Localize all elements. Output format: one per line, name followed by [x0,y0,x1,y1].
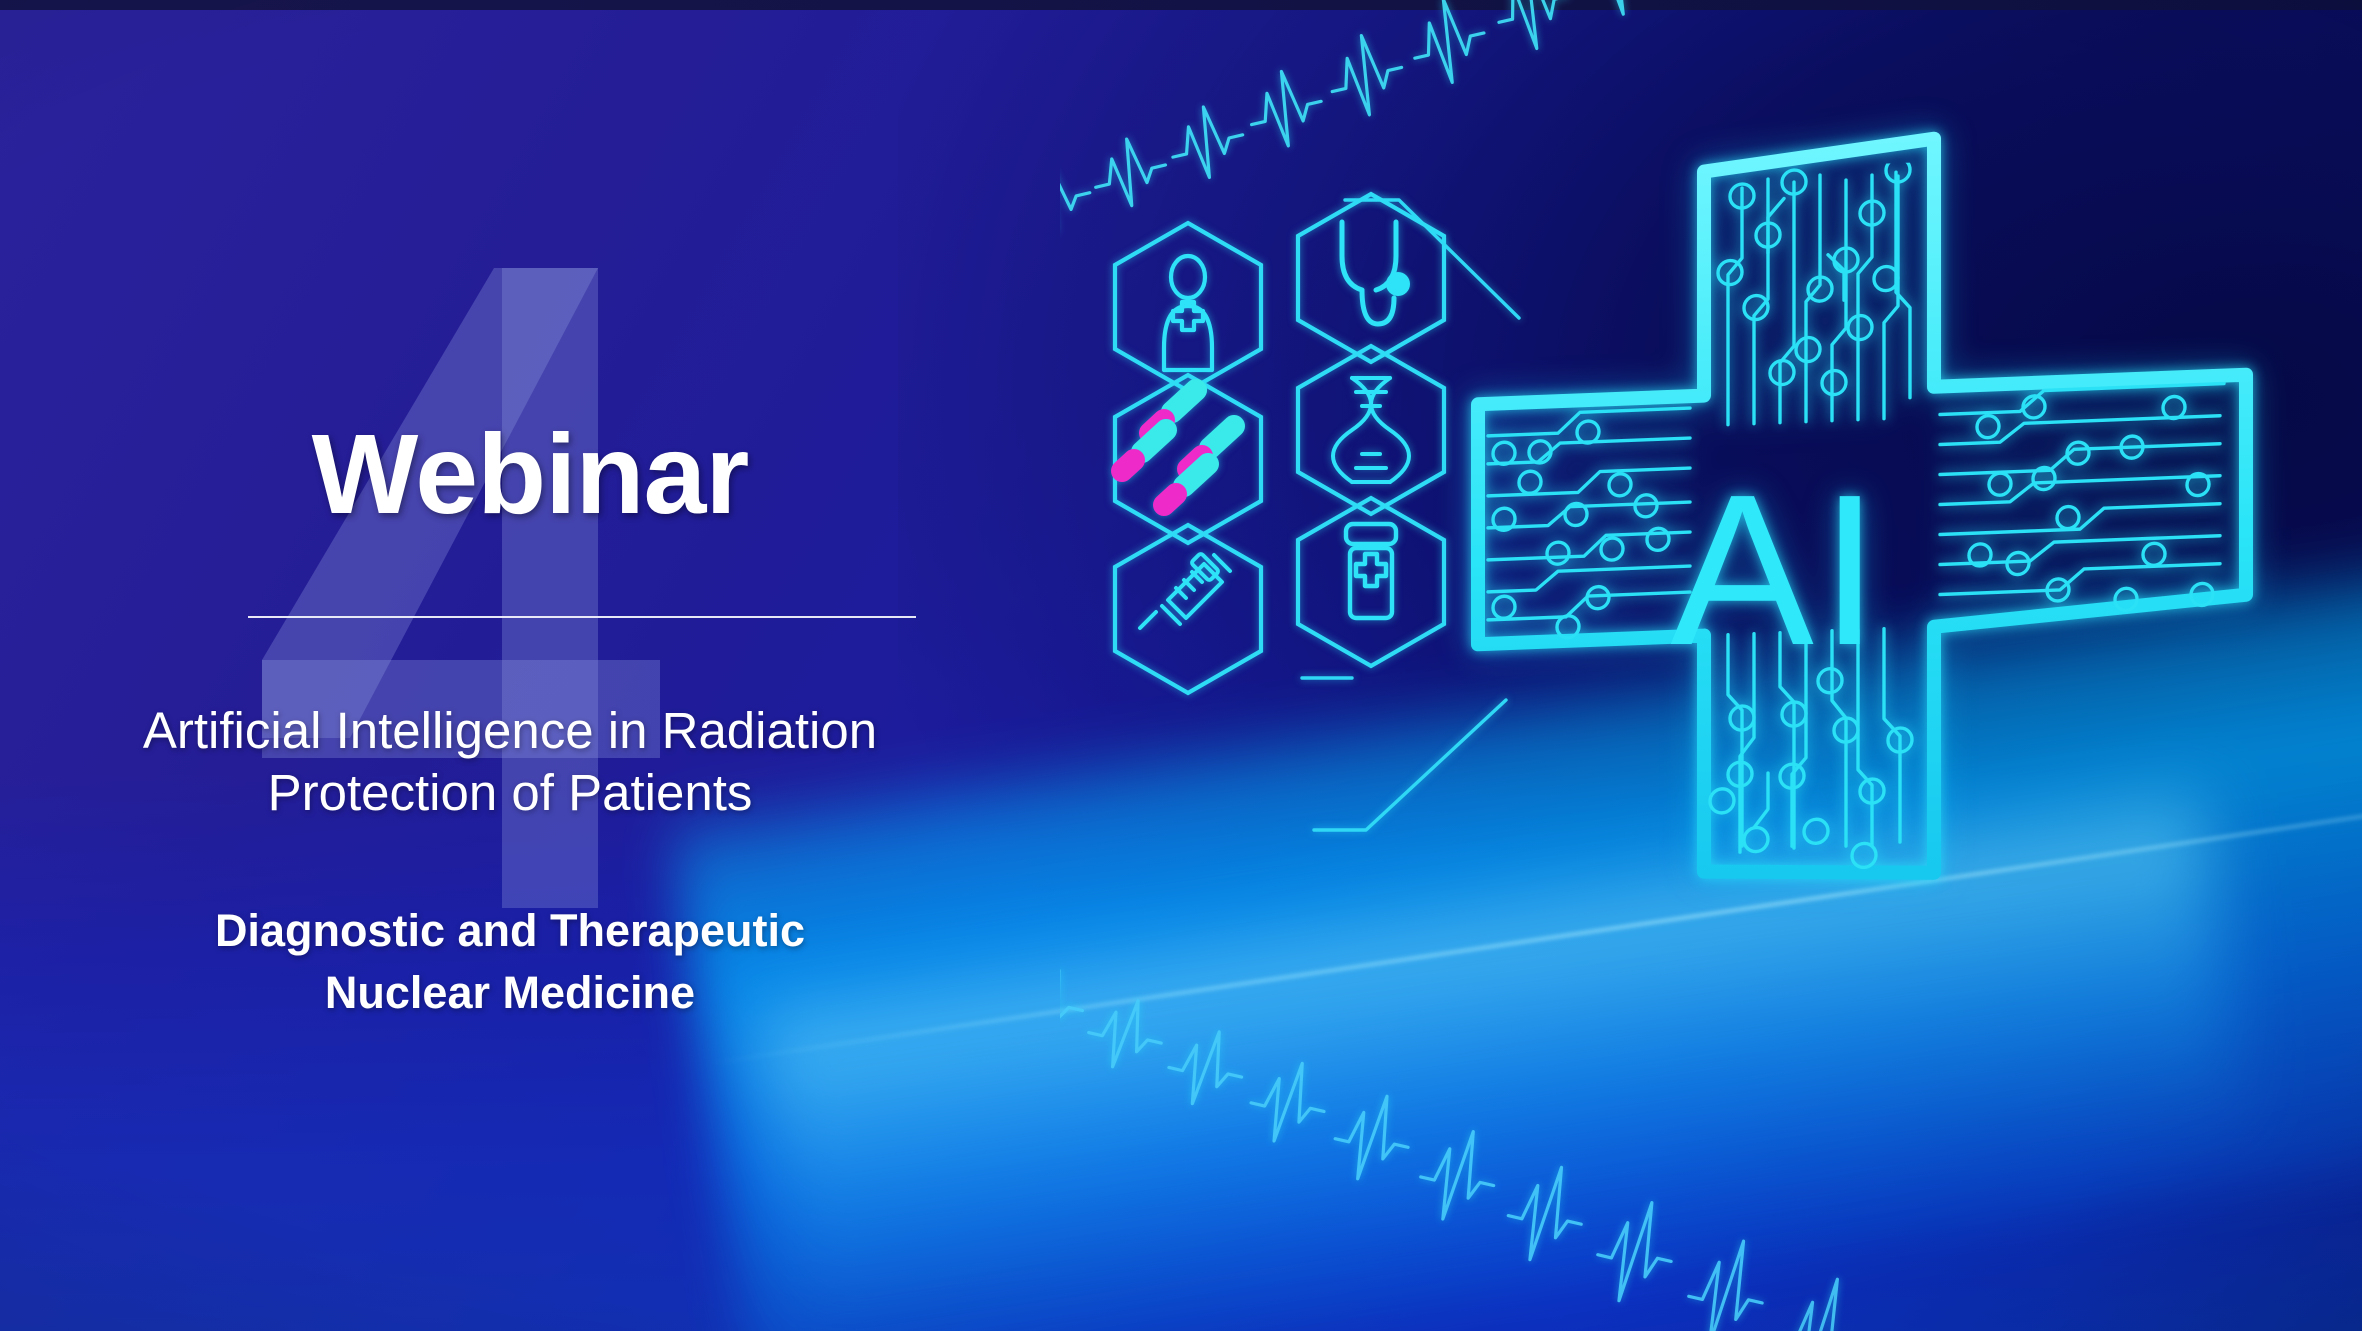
hexagon-icon-grid [1115,194,1444,693]
hexagon-outline [1298,194,1444,362]
ecg-bottom-band [1060,961,1897,1331]
topic-line-2: Nuclear Medicine [40,962,980,1024]
left-text-pane: Webinar Artificial Intelligence in Radia… [0,0,1060,1331]
webinar-title-slide: Webinar Artificial Intelligence in Radia… [0,0,2362,1331]
connector-top [1345,200,1519,318]
dna-icon [1333,378,1409,482]
hexagon-syringe [1115,525,1261,693]
hexagon-medicine-bottle [1298,498,1444,666]
doctor-icon [1164,256,1212,370]
stethoscope-icon [1342,222,1410,324]
connector-lines [1302,200,1519,830]
ai-label: AI [1670,449,1885,690]
hexagon-stethoscope [1298,194,1444,362]
ai-cross: AI [1478,127,2246,891]
subtitle-line-1: Artificial Intelligence in Radiation [40,700,980,762]
cross-circuit-right [1940,384,2224,618]
syringe-icon [1140,553,1230,628]
ecg-top-band [1060,0,1964,238]
medicine-bottle-icon [1346,524,1396,618]
hexagon-outline [1115,525,1261,693]
topic-line-1: Diagnostic and Therapeutic [40,900,980,962]
subtitle-line-2: Protection of Patients [40,762,980,824]
subtitle: Artificial Intelligence in Radiation Pro… [40,700,980,824]
title-divider [248,616,916,618]
cross-circuit-top [1718,158,1910,425]
ai-medical-graphic: AI [1060,0,2362,1331]
hexagon-outline [1298,346,1444,514]
pills-icon [1122,390,1234,505]
hexagon-pills [1115,375,1261,543]
cross-circuit-left [1488,408,1690,641]
page-title: Webinar [0,418,1060,531]
topic: Diagnostic and Therapeutic Nuclear Medic… [40,900,980,1024]
hexagon-dna [1298,346,1444,514]
connector-bottom [1314,700,1506,830]
hexagon-doctor [1115,223,1261,391]
